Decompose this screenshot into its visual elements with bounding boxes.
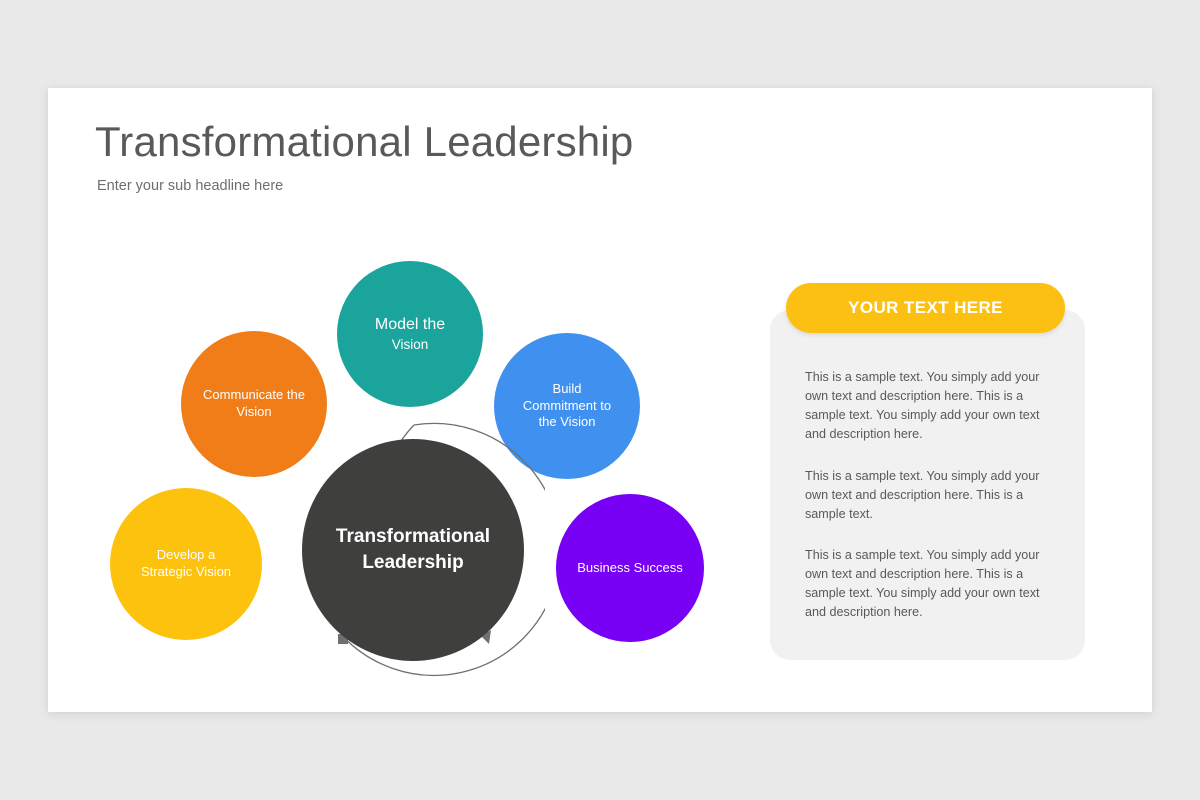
node-line-1: Business Success xyxy=(577,560,683,575)
node-line-1: Communicate the xyxy=(203,387,305,402)
info-paragraph-2: This is a sample text. You simply add yo… xyxy=(805,467,1047,524)
diagram-center-node[interactable]: Transformational Leadership xyxy=(302,439,524,661)
node-line-2: Vision xyxy=(236,404,271,419)
diagram-node-model[interactable]: Model the Vision xyxy=(337,261,483,407)
diagram-node-develop-label: Develop a Strategic Vision xyxy=(131,547,241,580)
center-line-2: Leadership xyxy=(362,552,463,573)
node-line-1: Develop a xyxy=(157,547,216,562)
presentation-slide: Transformational Leadership Enter your s… xyxy=(48,88,1152,712)
node-line-3: the Vision xyxy=(539,414,596,429)
info-panel-body: This is a sample text. You simply add yo… xyxy=(805,368,1047,623)
node-line-2: Strategic Vision xyxy=(141,564,231,579)
diagram-node-business-success-label: Business Success xyxy=(567,560,693,577)
diagram-node-develop[interactable]: Develop a Strategic Vision xyxy=(110,488,262,640)
diagram-node-business-success[interactable]: Business Success xyxy=(556,494,704,642)
diagram-center-node-label: Transformational Leadership xyxy=(326,524,500,575)
slide-canvas-background: Transformational Leadership Enter your s… xyxy=(0,0,1200,800)
diagram-node-communicate-label: Communicate the Vision xyxy=(193,387,315,420)
diagram-node-model-label: Model the Vision xyxy=(365,315,455,353)
info-paragraph-3: This is a sample text. You simply add yo… xyxy=(805,546,1047,623)
node-line-2: Commitment to xyxy=(523,398,611,413)
node-line-1: Build xyxy=(553,381,582,396)
info-panel-header-label: YOUR TEXT HERE xyxy=(848,298,1003,318)
info-panel-header-pill[interactable]: YOUR TEXT HERE xyxy=(786,283,1065,333)
node-line-2: Vision xyxy=(375,336,445,353)
center-line-1: Transformational xyxy=(336,526,490,547)
transformational-leadership-diagram: Communicate the Vision Model the Vision … xyxy=(48,88,748,712)
node-line-1: Model the xyxy=(375,316,445,333)
info-paragraph-1: This is a sample text. You simply add yo… xyxy=(805,368,1047,445)
